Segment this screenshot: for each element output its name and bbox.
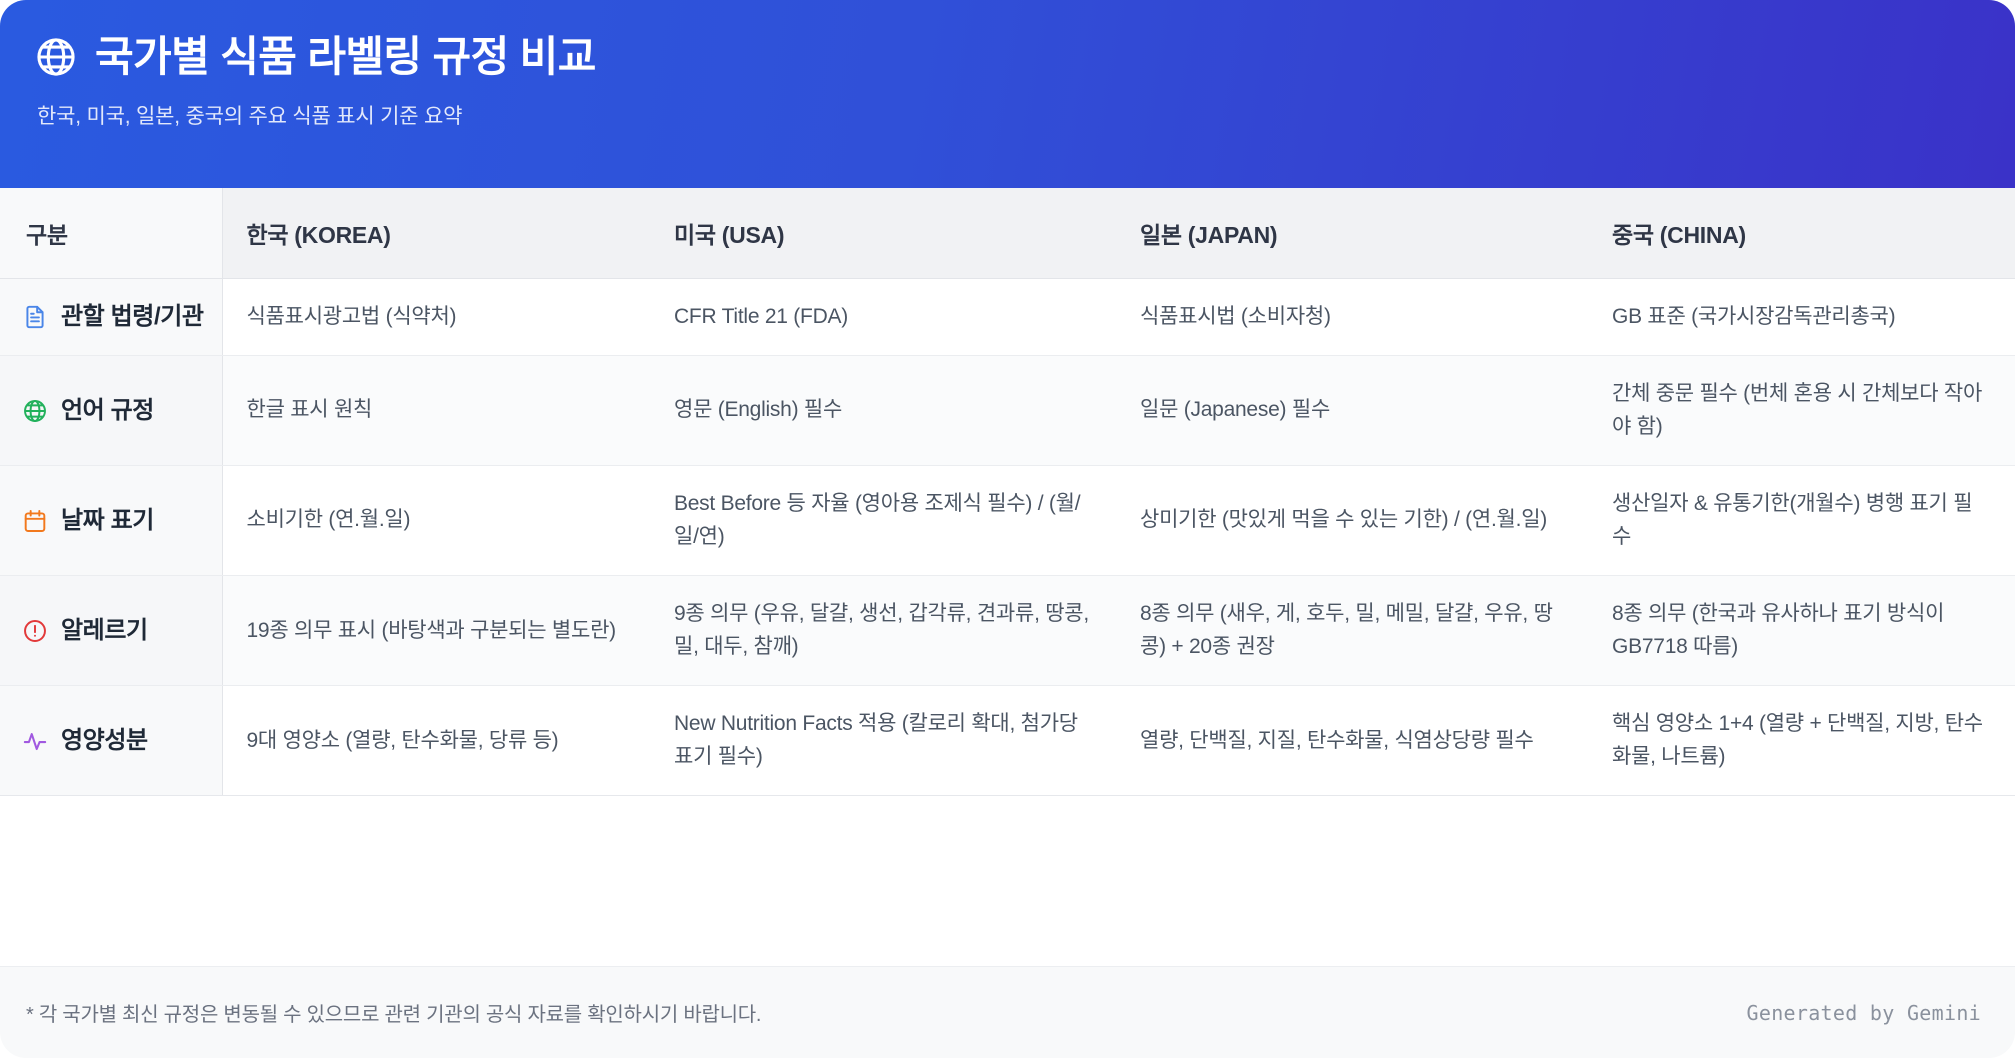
row-label: 언어 규정 (61, 395, 154, 427)
activity-pulse-icon (22, 728, 48, 754)
cell-usa: Best Before 등 자율 (영아용 조제식 필수) / (월/일/연) (650, 466, 1116, 576)
comparison-table-wrap: 구분 한국 (KOREA) 미국 (USA) 일본 (JAPAN) 중국 (CH… (0, 188, 2015, 966)
card-header: 국가별 식품 라벨링 규정 비교 한국, 미국, 일본, 중국의 주요 식품 표… (0, 0, 2015, 188)
cell-korea: 한글 표시 원칙 (222, 356, 650, 466)
row-header-cell: 영양성분 (0, 686, 222, 796)
cell-china: 생산일자 & 유통기한(개월수) 병행 표기 필수 (1588, 466, 2015, 576)
column-header-korea: 한국 (KOREA) (222, 188, 650, 278)
cell-korea: 식품표시광고법 (식약처) (222, 278, 650, 356)
comparison-card: 국가별 식품 라벨링 규정 비교 한국, 미국, 일본, 중국의 주요 식품 표… (0, 0, 2015, 1058)
table-row: 관할 법령/기관 식품표시광고법 (식약처) CFR Title 21 (FDA… (0, 278, 2015, 356)
cell-usa: 영문 (English) 필수 (650, 356, 1116, 466)
page-title: 국가별 식품 라벨링 규정 비교 (95, 34, 596, 80)
page-subtitle: 한국, 미국, 일본, 중국의 주요 식품 표시 기준 요약 (37, 100, 2015, 130)
document-icon (22, 304, 48, 330)
cell-usa: New Nutrition Facts 적용 (칼로리 확대, 첨가당 표기 필… (650, 686, 1116, 796)
calendar-icon (22, 508, 48, 534)
table-row: 날짜 표기 소비기한 (연.월.일) Best Before 등 자율 (영아용… (0, 466, 2015, 576)
row-label: 날짜 표기 (61, 505, 154, 537)
cell-china: 핵심 영양소 1+4 (열량 + 단백질, 지방, 탄수화물, 나트륨) (1588, 686, 2015, 796)
table-header-row: 구분 한국 (KOREA) 미국 (USA) 일본 (JAPAN) 중국 (CH… (0, 188, 2015, 278)
cell-japan: 일문 (Japanese) 필수 (1116, 356, 1588, 466)
footer-note: * 각 국가별 최신 규정은 변동될 수 있으므로 관련 기관의 공식 자료를 … (26, 998, 761, 1027)
header-title-row: 국가별 식품 라벨링 규정 비교 (34, 34, 2015, 80)
alert-circle-icon (22, 618, 48, 644)
cell-korea: 19종 의무 표시 (바탕색과 구분되는 별도란) (222, 576, 650, 686)
row-label: 영양성분 (61, 725, 148, 757)
cell-japan: 열량, 단백질, 지질, 탄수화물, 식염상당량 필수 (1116, 686, 1588, 796)
table-row: 언어 규정 한글 표시 원칙 영문 (English) 필수 일문 (Japan… (0, 356, 2015, 466)
footer-credit: Generated by Gemini (1747, 1001, 1981, 1025)
globe-icon (34, 35, 78, 79)
cell-korea: 소비기한 (연.월.일) (222, 466, 650, 576)
cell-china: 간체 중문 필수 (번체 혼용 시 간체보다 작아야 함) (1588, 356, 2015, 466)
row-header-cell: 알레르기 (0, 576, 222, 686)
table-row: 알레르기 19종 의무 표시 (바탕색과 구분되는 별도란) 9종 의무 (우유… (0, 576, 2015, 686)
row-header-cell: 관할 법령/기관 (0, 278, 222, 356)
column-header-category: 구분 (0, 188, 222, 278)
column-header-china: 중국 (CHINA) (1588, 188, 2015, 278)
cell-china: 8종 의무 (한국과 유사하나 표기 방식이 GB7718 따름) (1588, 576, 2015, 686)
table-body: 관할 법령/기관 식품표시광고법 (식약처) CFR Title 21 (FDA… (0, 278, 2015, 796)
table-row: 영양성분 9대 영양소 (열량, 탄수화물, 당류 등) New Nutriti… (0, 686, 2015, 796)
cell-japan: 상미기한 (맛있게 먹을 수 있는 기한) / (연.월.일) (1116, 466, 1588, 576)
cell-japan: 식품표시법 (소비자청) (1116, 278, 1588, 356)
cell-korea: 9대 영양소 (열량, 탄수화물, 당류 등) (222, 686, 650, 796)
comparison-table: 구분 한국 (KOREA) 미국 (USA) 일본 (JAPAN) 중국 (CH… (0, 188, 2015, 796)
table-head: 구분 한국 (KOREA) 미국 (USA) 일본 (JAPAN) 중국 (CH… (0, 188, 2015, 278)
cell-japan: 8종 의무 (새우, 게, 호두, 밀, 메밀, 달걀, 우유, 땅콩) + 2… (1116, 576, 1588, 686)
cell-usa: CFR Title 21 (FDA) (650, 278, 1116, 356)
column-header-usa: 미국 (USA) (650, 188, 1116, 278)
row-label: 관할 법령/기관 (61, 301, 204, 333)
globe-icon (22, 398, 48, 424)
cell-china: GB 표준 (국가시장감독관리총국) (1588, 278, 2015, 356)
row-header-cell: 날짜 표기 (0, 466, 222, 576)
row-header-cell: 언어 규정 (0, 356, 222, 466)
cell-usa: 9종 의무 (우유, 달걀, 생선, 갑각류, 견과류, 땅콩, 밀, 대두, … (650, 576, 1116, 686)
row-label: 알레르기 (61, 615, 148, 647)
column-header-japan: 일본 (JAPAN) (1116, 188, 1588, 278)
card-footer: * 각 국가별 최신 규정은 변동될 수 있으므로 관련 기관의 공식 자료를 … (0, 966, 2015, 1058)
